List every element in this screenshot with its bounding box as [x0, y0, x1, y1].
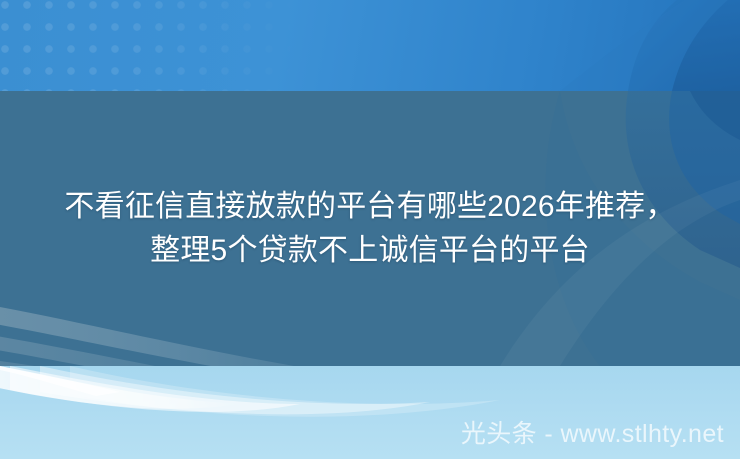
article-cover-banner[interactable]: 不看征信直接放款的平台有哪些2026年推荐，整理5个贷款不上诚信平台的平台 光头… — [0, 0, 740, 459]
title-container: 不看征信直接放款的平台有哪些2026年推荐，整理5个贷款不上诚信平台的平台 — [0, 91, 740, 366]
background-band-top — [0, 0, 740, 91]
banner-title: 不看征信直接放款的平台有哪些2026年推荐，整理5个贷款不上诚信平台的平台 — [40, 185, 700, 273]
site-watermark: 光头条 - www.stlhty.net — [461, 422, 724, 447]
